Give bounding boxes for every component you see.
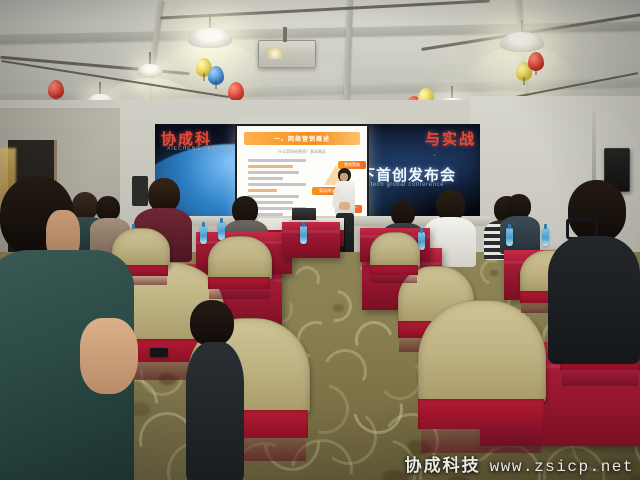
presenter-face <box>340 173 348 181</box>
balloon-blue-1-icon <box>208 66 224 85</box>
slide-text-line <box>248 189 277 192</box>
attendee-glasses-right <box>548 180 640 360</box>
water-bottle-2 <box>200 226 207 244</box>
balloon-red-1-icon <box>48 80 64 99</box>
chair-seat <box>562 368 639 386</box>
chair-back <box>418 300 546 407</box>
chair-7 <box>370 232 418 282</box>
slide-header-text: 一、网络营销概述 <box>274 134 330 143</box>
slide-header-banner: 一、网络营销概述 <box>244 132 360 145</box>
backdrop-right-title: 与实战 <box>425 128 476 149</box>
projector-mount <box>283 27 287 42</box>
slide-text-line <box>248 165 293 168</box>
table-far-left <box>282 222 340 258</box>
water-bottle-6 <box>506 228 513 246</box>
lamp-shade <box>500 32 544 52</box>
person-body <box>186 342 244 480</box>
carpet-dark-accent <box>490 270 499 276</box>
attendee-front-left-green-shirt <box>0 176 134 480</box>
slide-text-line <box>248 177 283 180</box>
slide-text-line <box>248 159 306 162</box>
lamp-shade <box>188 28 232 48</box>
chair-back <box>370 232 420 269</box>
slide-text-line <box>248 171 299 174</box>
slide-text-line <box>248 183 306 186</box>
balloon-red-2-icon <box>228 82 244 101</box>
chair-3 <box>208 236 270 298</box>
chair-back <box>208 236 272 281</box>
ceiling-projector <box>258 40 316 68</box>
water-bottle-4 <box>300 226 307 244</box>
chair-6 <box>418 300 544 450</box>
ceiling-beam <box>0 21 640 43</box>
projector-lens <box>267 48 283 59</box>
balloon-red-4-icon <box>528 52 544 71</box>
lamp-shade <box>137 64 163 77</box>
slide-subtitle: 什么是网络营销？基本概念 <box>258 149 346 154</box>
presenter-hands <box>339 202 350 210</box>
carpet-dark-accent <box>333 304 345 312</box>
carpet-swirl-motif <box>291 262 325 296</box>
person-arm <box>80 318 138 394</box>
laptop-on-table <box>292 208 316 221</box>
person-body <box>548 236 640 364</box>
chair-seat <box>421 426 542 453</box>
chair-red-sash <box>418 399 544 429</box>
table-cloth-fold <box>282 230 340 233</box>
attendee-front-center <box>186 300 244 480</box>
smartphone-on-chair <box>150 348 168 357</box>
person-head <box>148 178 180 212</box>
backdrop-main-subtitle: Hi-tech global conference <box>361 182 444 188</box>
chair-seat <box>371 274 417 283</box>
chair-seat <box>209 288 269 299</box>
person-head <box>190 300 234 346</box>
conference-room-photo: 协成科 XIECHENG TECHNOLOGY 与实战 下首创发布会 Hi-te… <box>0 0 640 480</box>
